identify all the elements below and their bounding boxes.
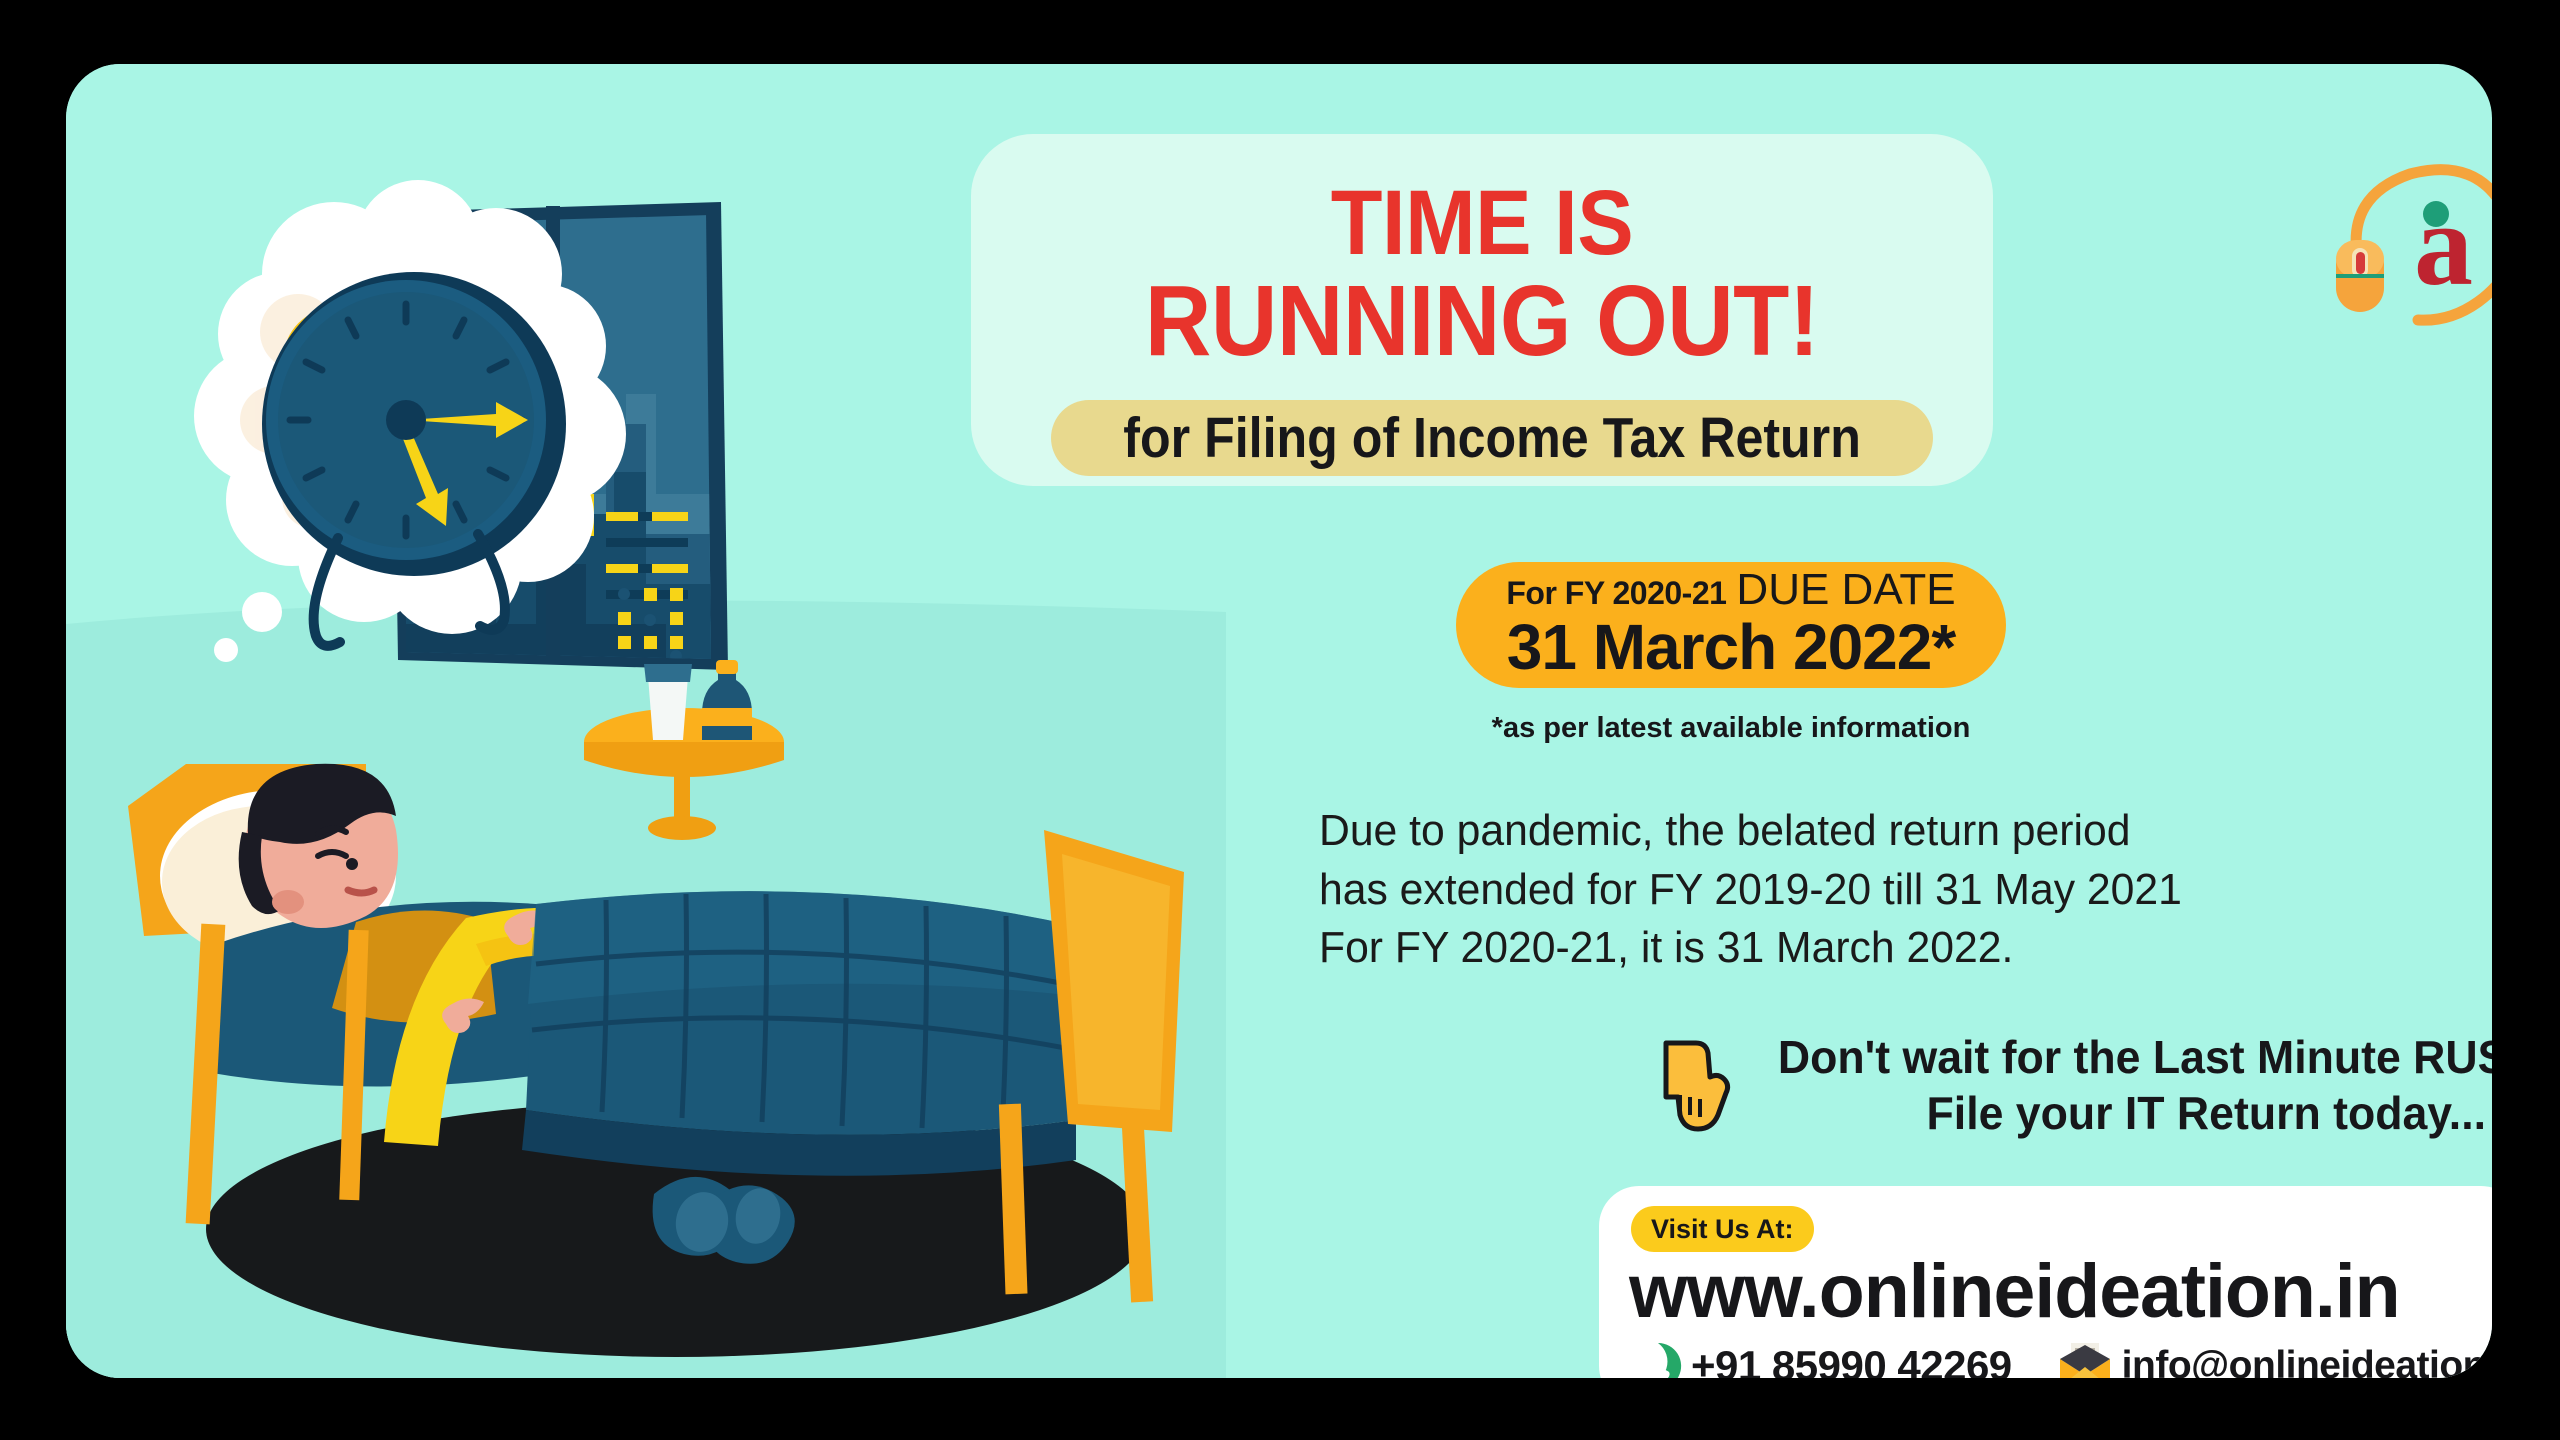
visit-us-badge: Visit Us At: <box>1631 1206 1814 1252</box>
due-date-label: DUE DATE <box>1736 565 1955 615</box>
cta-text: Don't wait for the Last Minute RUSH! Fil… <box>1778 1029 2486 1141</box>
due-date-fy-label: For FY 2020-21 <box>1506 575 1726 612</box>
headline-subtitle: for Filing of Income Tax Return <box>1123 405 1861 471</box>
poster-root: TIME IS RUNNING OUT! for Filing of Incom… <box>0 0 2560 1440</box>
due-date-header: For FY 2020-21 DUE DATE <box>1506 565 1955 615</box>
headline-line-2: RUNNING OUT! <box>1012 274 1952 369</box>
contact-row: +91 85990 42269 info@onlineideation.in <box>1633 1338 2492 1378</box>
body-paragraph: Due to pandemic, the belated return peri… <box>1319 802 2347 978</box>
phone-number[interactable]: +91 85990 42269 <box>1691 1342 2012 1378</box>
headline-subtitle-bar: for Filing of Income Tax Return <box>1051 400 1933 476</box>
email-address[interactable]: info@onlineideation.in <box>2122 1344 2492 1378</box>
headline-line-1: TIME IS <box>1012 180 1952 267</box>
email-envelope-icon <box>2058 1343 2112 1378</box>
cta-line-1: Don't wait for the Last Minute RUSH! <box>1778 1029 2486 1085</box>
brand-logo: a <box>2306 152 2492 342</box>
website-url[interactable]: www.onlineideation.in <box>1629 1248 2490 1335</box>
body-line-3: For FY 2020-21, it is 31 March 2022. <box>1319 919 2347 978</box>
logo-letter: a <box>2414 179 2473 310</box>
body-line-2: has extended for FY 2019-20 till 31 May … <box>1319 861 2347 920</box>
poster-card: TIME IS RUNNING OUT! for Filing of Incom… <box>66 64 2492 1378</box>
computer-mouse-icon <box>2336 240 2384 312</box>
due-date-value: 31 March 2022* <box>1507 615 1956 680</box>
whatsapp-icon <box>1633 1341 1683 1378</box>
headline-card: TIME IS RUNNING OUT! for Filing of Incom… <box>971 134 1993 486</box>
due-date-badge: For FY 2020-21 DUE DATE 31 March 2022* <box>1456 562 2006 688</box>
body-line-1: Due to pandemic, the belated return peri… <box>1319 802 2347 861</box>
contact-footer-card: Visit Us At: www.onlineideation.in +91 8… <box>1599 1186 2492 1378</box>
pointing-down-hand-icon <box>1656 1037 1734 1133</box>
cta-line-2: File your IT Return today... <box>1778 1085 2486 1141</box>
visit-us-label: Visit Us At: <box>1651 1214 1794 1245</box>
due-date-footnote: *as per latest available information <box>1456 712 2006 745</box>
